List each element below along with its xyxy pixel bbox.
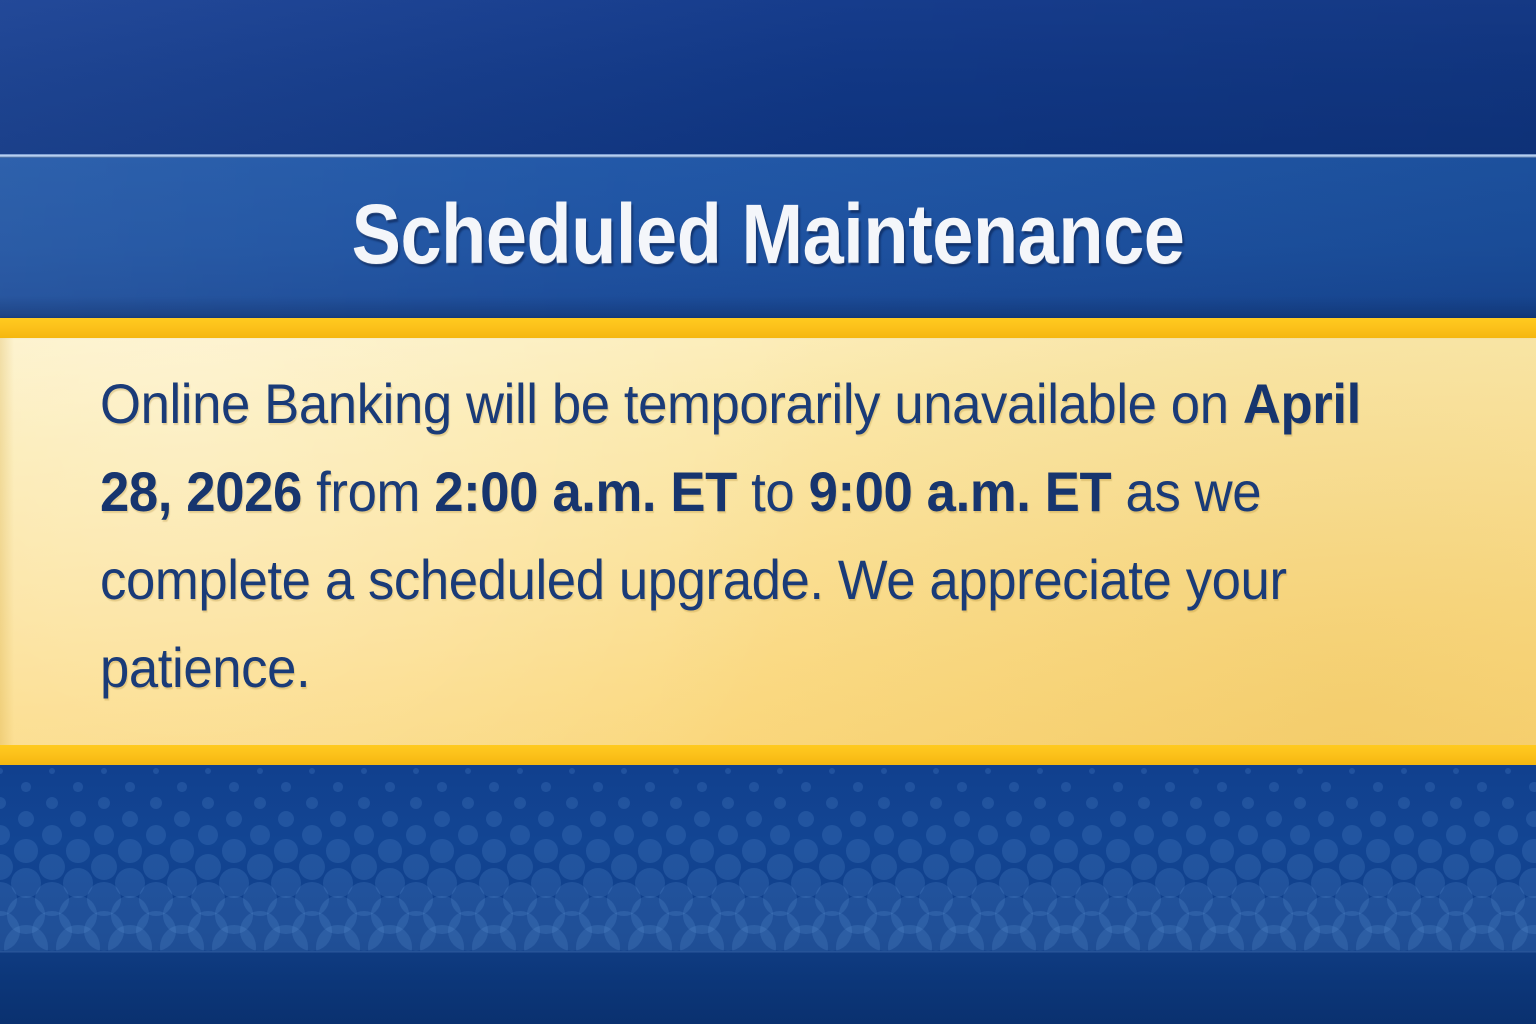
halftone-dot	[1505, 768, 1511, 774]
header-upper-band	[0, 0, 1536, 156]
halftone-dot	[250, 825, 270, 845]
halftone-dot	[1339, 854, 1366, 881]
halftone-dot	[586, 839, 609, 862]
halftone-dot	[926, 825, 946, 845]
halftone-dot	[42, 825, 62, 845]
halftone-dot	[118, 839, 141, 862]
halftone-dot	[1314, 839, 1337, 862]
halftone-dot	[982, 797, 995, 810]
halftone-dot	[98, 797, 111, 810]
halftone-dot	[1242, 797, 1255, 810]
halftone-dot	[309, 768, 315, 774]
halftone-dot	[1245, 768, 1251, 774]
halftone-dot	[1027, 854, 1054, 881]
halftone-dot	[1054, 839, 1077, 862]
halftone-dot	[1446, 825, 1466, 845]
halftone-dot	[1287, 854, 1314, 881]
halftone-dot	[1037, 768, 1043, 774]
halftone-dot	[1086, 797, 1099, 810]
halftone-dot	[590, 811, 606, 827]
halftone-dot	[697, 782, 706, 791]
halftone-dot	[229, 782, 238, 791]
halftone-dot	[1082, 825, 1102, 845]
halftone-dot	[1002, 839, 1025, 862]
message-start-time: 2:00 a.m. ET	[434, 460, 737, 523]
halftone-dot	[663, 854, 690, 881]
halftone-dot	[1141, 768, 1147, 774]
halftone-dot	[950, 839, 973, 862]
maintenance-message: Online Banking will be temporarily unava…	[100, 360, 1416, 712]
halftone-dot	[1318, 811, 1334, 827]
halftone-dot	[1006, 811, 1022, 827]
halftone-dot	[541, 782, 550, 791]
halftone-dot	[101, 768, 107, 774]
halftone-dot	[281, 782, 290, 791]
halftone-dot	[1138, 797, 1151, 810]
halftone-dot	[406, 825, 426, 845]
halftone-dot	[718, 825, 738, 845]
halftone-dot	[1034, 797, 1047, 810]
halftone-dot	[302, 825, 322, 845]
halftone-dot	[1158, 839, 1181, 862]
halftone-dot	[957, 782, 966, 791]
halftone-dot	[198, 825, 218, 845]
halftone-dot	[278, 811, 294, 827]
halftone-dot	[333, 782, 342, 791]
halftone-dot	[1134, 825, 1154, 845]
halftone-dot	[1366, 839, 1389, 862]
halftone-dot	[1235, 854, 1262, 881]
halftone-dot	[850, 811, 866, 827]
halftone-dot	[1131, 854, 1158, 881]
halftone-dot	[798, 811, 814, 827]
halftone-dot	[1526, 811, 1536, 827]
halftone-dot	[1079, 854, 1106, 881]
halftone-dot	[562, 825, 582, 845]
message-connector-to: to	[751, 460, 794, 523]
halftone-dot	[378, 839, 401, 862]
halftone-dot	[933, 768, 939, 774]
halftone-dot	[1321, 782, 1330, 791]
halftone-dot	[538, 811, 554, 827]
message-panel: Online Banking will be temporarily unava…	[0, 338, 1536, 745]
halftone-dot	[846, 839, 869, 862]
halftone-dot	[14, 839, 37, 862]
halftone-dot	[819, 854, 846, 881]
halftone-dot	[569, 768, 575, 774]
halftone-dot	[153, 768, 159, 774]
halftone-dot	[566, 797, 579, 810]
halftone-dot-pattern	[0, 765, 1536, 951]
halftone-dot	[0, 768, 3, 774]
halftone-dot	[1522, 839, 1536, 862]
halftone-dot	[822, 825, 842, 845]
halftone-dot	[618, 797, 631, 810]
halftone-dot	[1009, 782, 1018, 791]
halftone-dot	[715, 854, 742, 881]
halftone-dot	[614, 825, 634, 845]
halftone-dot	[66, 839, 89, 862]
halftone-dot	[1529, 782, 1536, 791]
halftone-dot	[722, 797, 735, 810]
halftone-dot	[666, 825, 686, 845]
halftone-dot	[1401, 768, 1407, 774]
halftone-dot	[593, 782, 602, 791]
message-lead: Online Banking will be temporarily unava…	[100, 372, 1229, 435]
halftone-dot	[1394, 825, 1414, 845]
halftone-dot	[1113, 782, 1122, 791]
halftone-dot	[125, 782, 134, 791]
halftone-dot	[794, 839, 817, 862]
halftone-dot	[1089, 768, 1095, 774]
halftone-dot	[534, 839, 557, 862]
halftone-dot	[94, 825, 114, 845]
halftone-dot	[21, 782, 30, 791]
halftone-dot	[205, 768, 211, 774]
halftone-dot	[413, 768, 419, 774]
halftone-dot	[299, 854, 326, 881]
halftone-dot	[202, 797, 215, 810]
halftone-dot	[18, 811, 34, 827]
halftone-dot	[1450, 797, 1463, 810]
halftone-dot	[462, 797, 475, 810]
halftone-dot	[330, 811, 346, 827]
halftone-dot	[878, 797, 891, 810]
halftone-dot	[930, 797, 943, 810]
halftone-dot	[1030, 825, 1050, 845]
halftone-dot	[673, 768, 679, 774]
halftone-dot	[975, 854, 1002, 881]
halftone-dot	[510, 825, 530, 845]
halftone-dot	[1269, 782, 1278, 791]
halftone-dot	[410, 797, 423, 810]
halftone-dot	[403, 854, 430, 881]
halftone-dot	[767, 854, 794, 881]
halftone-dot	[1186, 825, 1206, 845]
halftone-dot	[1349, 768, 1355, 774]
halftone-dot	[621, 768, 627, 774]
halftone-dot	[611, 854, 638, 881]
halftone-dot	[382, 811, 398, 827]
halftone-dot	[1110, 811, 1126, 827]
halftone-dot	[70, 811, 86, 827]
halftone-dot	[1190, 797, 1203, 810]
halftone-dot	[801, 782, 810, 791]
halftone-dot	[1370, 811, 1386, 827]
halftone-dot	[122, 811, 138, 827]
halftone-dot	[1398, 797, 1411, 810]
halftone-dot	[306, 797, 319, 810]
halftone-dot	[742, 839, 765, 862]
halftone-dot	[46, 797, 59, 810]
halftone-dot	[1502, 797, 1515, 810]
halftone-dot	[226, 811, 242, 827]
message-end-time: 9:00 a.m. ET	[809, 460, 1112, 523]
halftone-dot	[1106, 839, 1129, 862]
halftone-dot	[326, 839, 349, 862]
halftone-dot	[1373, 782, 1382, 791]
halftone-dot	[905, 782, 914, 791]
halftone-dot	[143, 854, 170, 881]
page-title: Scheduled Maintenance	[92, 186, 1444, 283]
halftone-dot	[978, 825, 998, 845]
maintenance-notice-banner: Scheduled Maintenance Online Banking wil…	[0, 0, 1536, 1024]
message-connector-from: from	[316, 460, 420, 523]
halftone-dot	[826, 797, 839, 810]
halftone-dot	[670, 797, 683, 810]
halftone-dot	[174, 811, 190, 827]
halftone-dot	[874, 825, 894, 845]
gold-accent-bar-bottom	[0, 745, 1536, 765]
halftone-dot	[1183, 854, 1210, 881]
halftone-dot	[1495, 854, 1522, 881]
halftone-dot	[0, 797, 6, 810]
halftone-dot	[254, 797, 267, 810]
halftone-dot	[642, 811, 658, 827]
halftone-dot	[1342, 825, 1362, 845]
halftone-dot	[170, 839, 193, 862]
halftone-dot	[1391, 854, 1418, 881]
halftone-dot	[358, 797, 371, 810]
halftone-dot	[774, 797, 787, 810]
halftone-dot	[385, 782, 394, 791]
halftone-dot	[1165, 782, 1174, 791]
halftone-dot	[354, 825, 374, 845]
footer-lower-band	[0, 953, 1536, 1024]
halftone-dot	[437, 782, 446, 791]
halftone-dot	[489, 782, 498, 791]
halftone-dot	[1262, 839, 1285, 862]
halftone-dot	[150, 797, 163, 810]
halftone-dot	[465, 768, 471, 774]
halftone-dot	[645, 782, 654, 791]
halftone-dot	[746, 811, 762, 827]
halftone-dot	[1297, 768, 1303, 774]
halftone-dot	[1193, 768, 1199, 774]
gold-accent-bar-top	[0, 318, 1536, 338]
halftone-dot	[985, 768, 991, 774]
halftone-dot	[1266, 811, 1282, 827]
halftone-dot	[507, 854, 534, 881]
halftone-dot	[458, 825, 478, 845]
halftone-dot	[770, 825, 790, 845]
halftone-dot	[274, 839, 297, 862]
halftone-dot	[1453, 768, 1459, 774]
halftone-dot	[694, 811, 710, 827]
halftone-dot	[1058, 811, 1074, 827]
halftone-dot	[91, 854, 118, 881]
halftone-dot	[49, 768, 55, 774]
halftone-dot	[690, 839, 713, 862]
halftone-dot	[177, 782, 186, 791]
halftone-dot	[514, 797, 527, 810]
halftone-dot	[361, 768, 367, 774]
halftone-dot	[1238, 825, 1258, 845]
halftone-dot	[902, 811, 918, 827]
halftone-dot	[146, 825, 166, 845]
halftone-dot	[1443, 854, 1470, 881]
halftone-dot	[749, 782, 758, 791]
halftone-dot	[1210, 839, 1233, 862]
halftone-dot	[829, 768, 835, 774]
halftone-dot	[257, 768, 263, 774]
halftone-dot	[486, 811, 502, 827]
halftone-dot	[1422, 811, 1438, 827]
halftone-dot	[1061, 782, 1070, 791]
halftone-dot	[1294, 797, 1307, 810]
halftone-dot	[1290, 825, 1310, 845]
halftone-dot	[247, 854, 274, 881]
halftone-dot	[1498, 825, 1518, 845]
halftone-dot	[853, 782, 862, 791]
halftone-dot	[351, 854, 378, 881]
halftone-dot	[898, 839, 921, 862]
halftone-dot	[1470, 839, 1493, 862]
halftone-dot	[923, 854, 950, 881]
halftone-dot	[1162, 811, 1178, 827]
halftone-dot	[39, 854, 66, 881]
halftone-dot	[434, 811, 450, 827]
halftone-dot	[1477, 782, 1486, 791]
halftone-dot	[871, 854, 898, 881]
halftone-dot	[195, 854, 222, 881]
halftone-dot	[881, 768, 887, 774]
halftone-dot	[222, 839, 245, 862]
halftone-dot	[1346, 797, 1359, 810]
halftone-dot	[482, 839, 505, 862]
halftone-dot	[559, 854, 586, 881]
halftone-dot	[638, 839, 661, 862]
banner-footer	[0, 765, 1536, 1024]
halftone-dot	[1418, 839, 1441, 862]
halftone-dot	[1217, 782, 1226, 791]
halftone-dot	[73, 782, 82, 791]
halftone-dot	[517, 768, 523, 774]
halftone-dot	[777, 768, 783, 774]
halftone-dot	[455, 854, 482, 881]
halftone-dot	[430, 839, 453, 862]
halftone-dot	[1425, 782, 1434, 791]
halftone-dot	[1474, 811, 1490, 827]
halftone-dot	[954, 811, 970, 827]
halftone-dot	[725, 768, 731, 774]
halftone-dot	[1214, 811, 1230, 827]
halftone-dot	[0, 825, 10, 845]
